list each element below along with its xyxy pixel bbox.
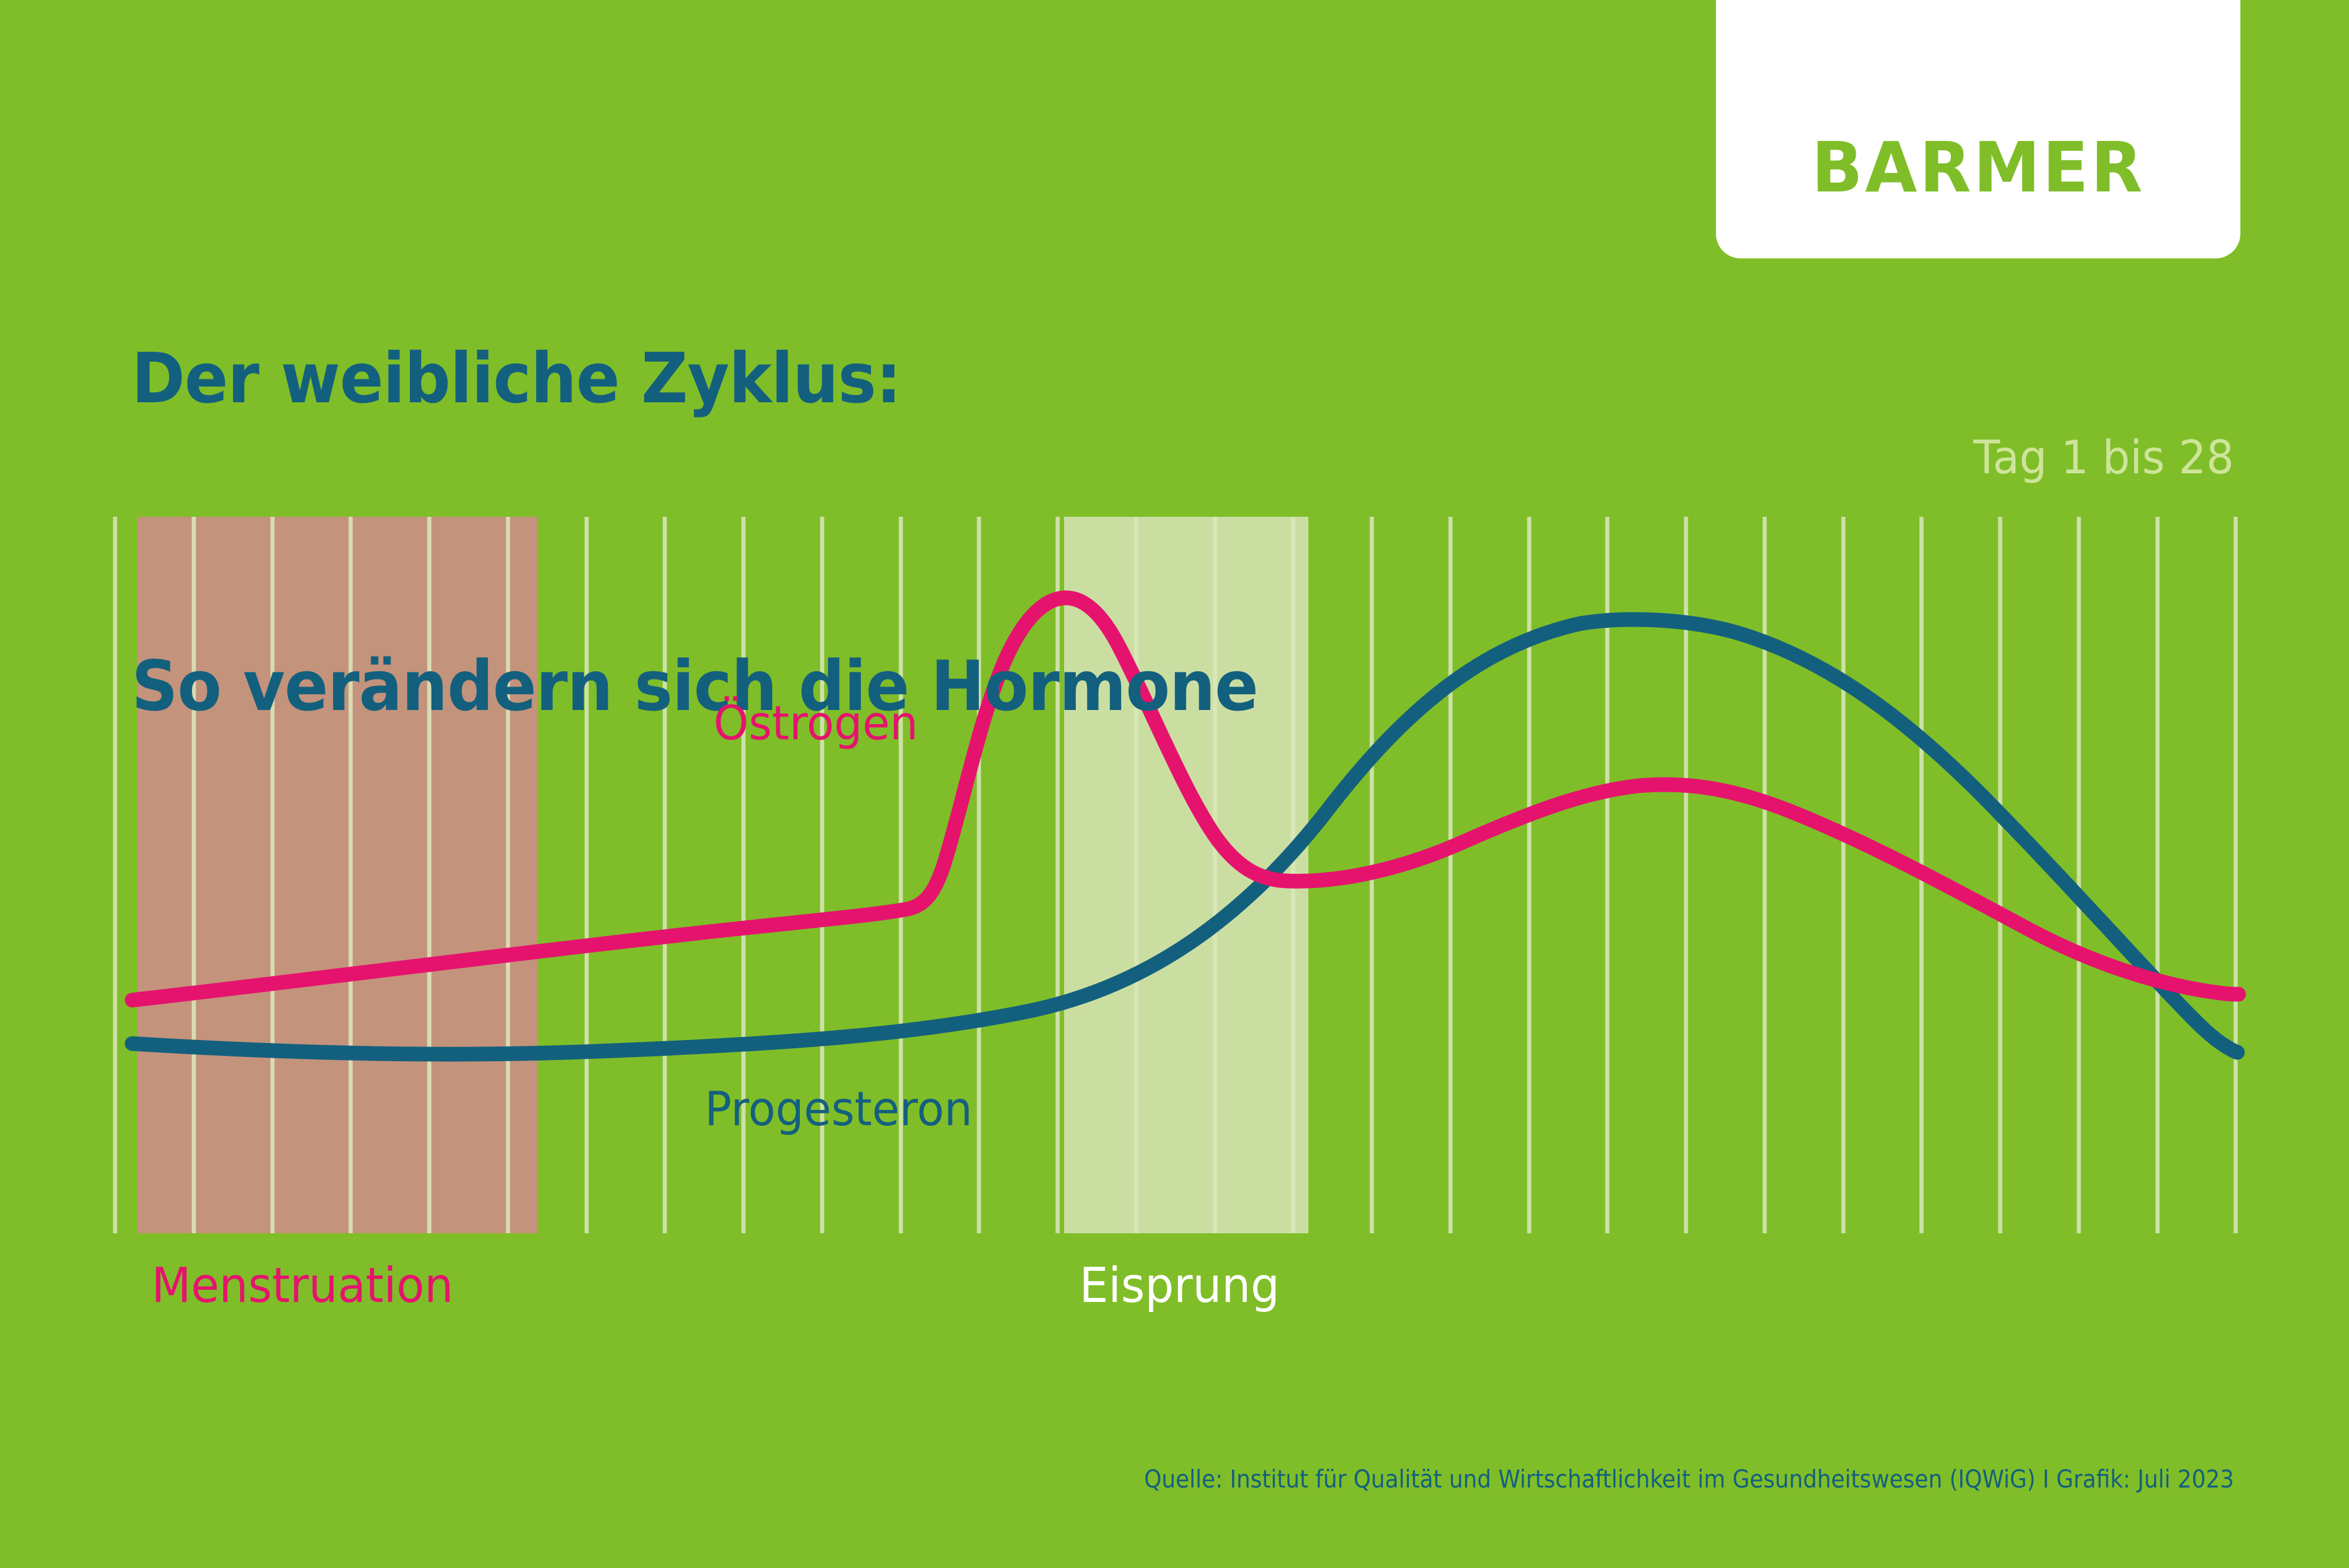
- source-credit: Quelle: Institut für Qualität und Wirtsc…: [1144, 1465, 2234, 1493]
- page-title: Der weibliche Zyklus: So verändern sich …: [132, 122, 1258, 943]
- eisprung-band-label: Eisprung: [1079, 1258, 1280, 1314]
- barmer-wordmark: BARMER: [1812, 133, 2145, 202]
- barmer-logo-panel: BARMER: [1716, 0, 2240, 258]
- page-title-line-2: So verändern sich die Hormone: [132, 635, 1258, 738]
- oestrogen-curve-label: Östrogen: [714, 696, 918, 751]
- page-title-line-1: Der weibliche Zyklus:: [132, 327, 1258, 430]
- infographic-canvas: BARMER Der weibliche Zyklus: So veränder…: [0, 0, 2349, 1568]
- progesteron-curve-label: Progesteron: [705, 1082, 972, 1136]
- menstruation-band-label: Menstruation: [152, 1258, 453, 1314]
- day-range-label: Tag 1 bis 28: [1973, 432, 2234, 484]
